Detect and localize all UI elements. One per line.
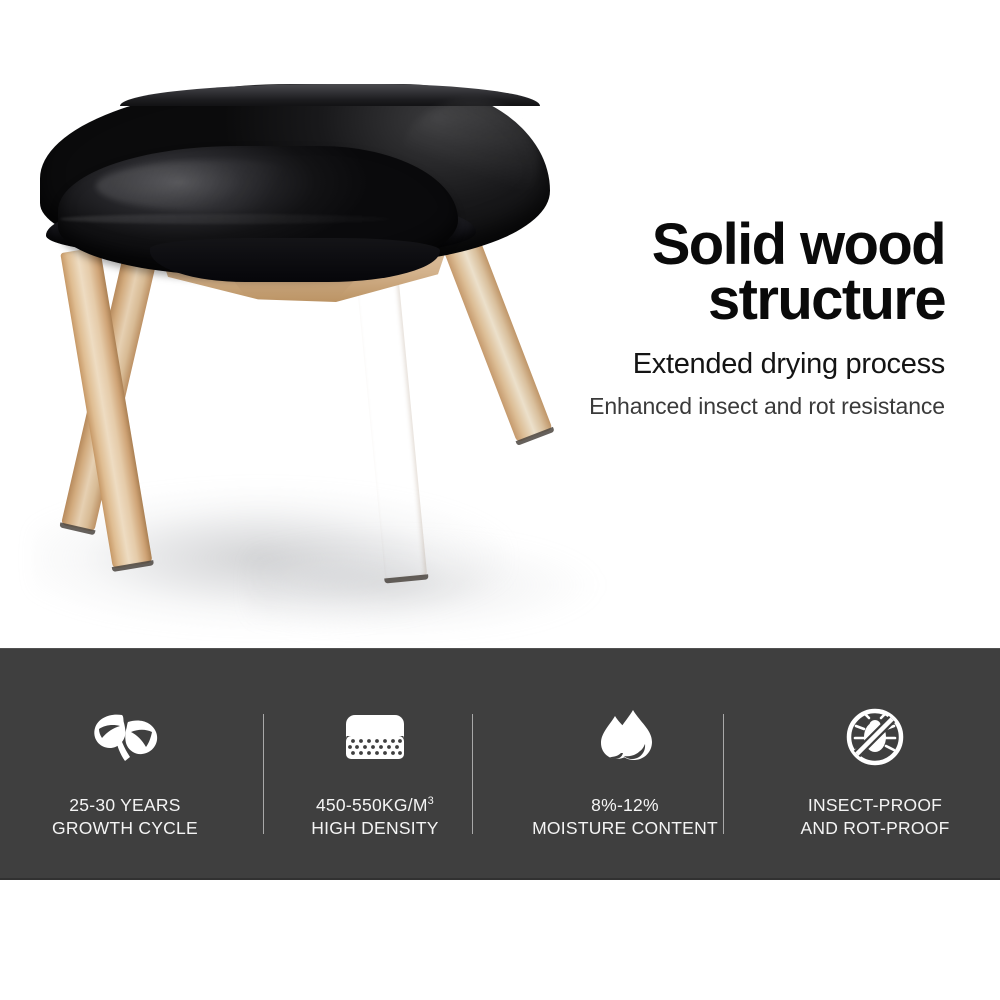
cushion-highlight [96, 160, 346, 212]
density-block-icon [343, 706, 407, 768]
headline-tagline: Enhanced insect and rot resistance [525, 393, 945, 419]
marketing-banner: Solid wood structure Extended drying pro… [0, 0, 1000, 1000]
feature-divider-3 [723, 714, 724, 834]
feature-caption: MOISTURE CONTENT [532, 817, 718, 840]
headline-block: Solid wood structure Extended drying pro… [525, 218, 945, 419]
hero-product-photo: Solid wood structure Extended drying pro… [0, 0, 1000, 648]
headline-subtitle: Extended drying process [525, 349, 945, 381]
feature-high-density: 450-550KG/M3 HIGH DENSITY [250, 648, 500, 841]
feature-caption: HIGH DENSITY [311, 817, 438, 840]
water-droplets-icon [593, 706, 657, 768]
feature-moisture-content: 8%-12% MOISTURE CONTENT [500, 648, 750, 841]
feature-label-growth-cycle: 25-30 YEARS GROWTH CYCLE [52, 794, 198, 841]
headline-title-line1: Solid wood [525, 218, 945, 273]
feature-value: 25-30 YEARS [52, 794, 198, 817]
feature-value: 8%-12% [532, 794, 718, 817]
feature-divider-1 [263, 714, 264, 834]
feature-value-superscript: 3 [428, 795, 434, 807]
feature-growth-cycle: 25-30 YEARS GROWTH CYCLE [0, 648, 250, 841]
feature-label-high-density: 450-550KG/M3 HIGH DENSITY [311, 794, 438, 841]
feature-caption: AND ROT-PROOF [800, 817, 949, 840]
feature-label-insect-rot-proof: INSECT-PROOF AND ROT-PROOF [800, 794, 949, 841]
seat-shell-underside [150, 238, 440, 282]
cushion-shell-seam [60, 214, 390, 224]
bottom-white-band [0, 880, 1000, 1000]
feature-value: 450-550KG/M3 [311, 794, 438, 817]
floor-shadow-secondary [250, 520, 610, 648]
feature-bar: 25-30 YEARS GROWTH CYCLE [0, 648, 1000, 880]
headline-title-line2: structure [525, 273, 945, 328]
feature-value-text: 450-550KG/M [316, 795, 428, 815]
feature-value: INSECT-PROOF [800, 794, 949, 817]
feature-divider-2 [472, 714, 473, 834]
feature-label-moisture-content: 8%-12% MOISTURE CONTENT [532, 794, 718, 841]
no-insect-icon [845, 706, 905, 768]
leaf-sprout-icon [90, 706, 160, 768]
feature-insect-rot-proof: INSECT-PROOF AND ROT-PROOF [750, 648, 1000, 841]
feature-caption: GROWTH CYCLE [52, 817, 198, 840]
